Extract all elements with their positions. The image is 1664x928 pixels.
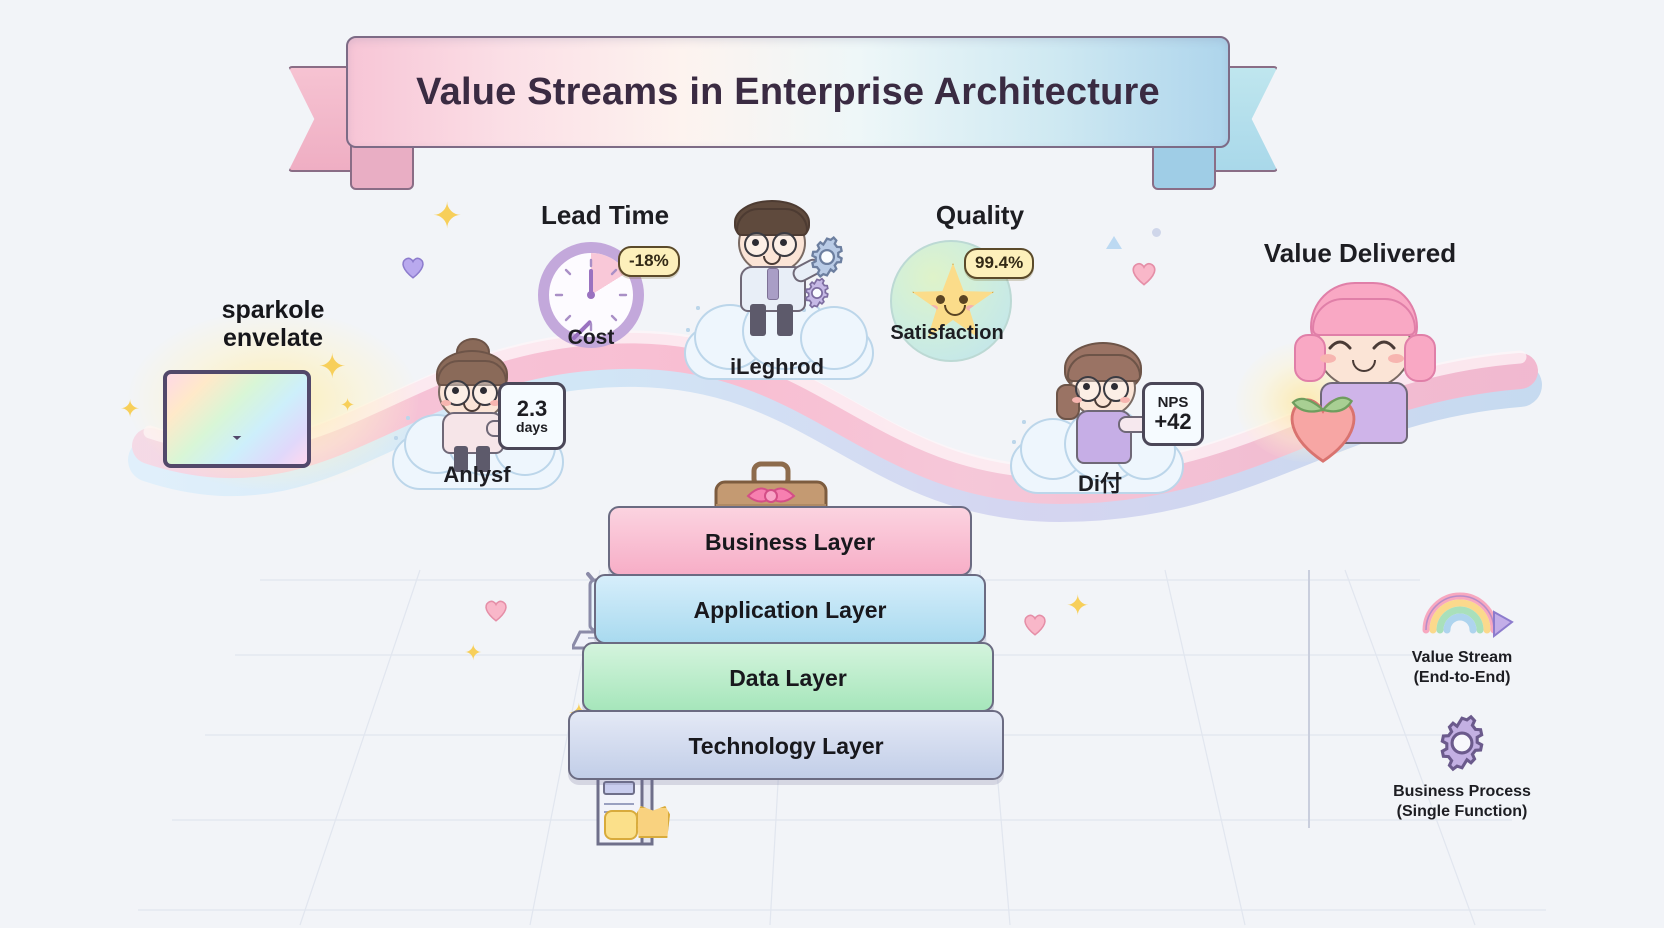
stage-analyst: 2.3 days Anlysf: [382, 340, 572, 505]
analyst-caption: Anlysf: [382, 462, 572, 488]
cheek: [1120, 397, 1130, 403]
nps-value: +42: [1154, 410, 1191, 433]
heart-icon: [400, 255, 426, 279]
architecture-layer-stack: Business Layer Application Layer Data La…: [560, 470, 1030, 850]
legend-label-line1: Business Process: [1352, 782, 1572, 802]
lead-time-sub-label: Cost: [538, 326, 644, 350]
legend-label-line1: Value Stream: [1352, 648, 1572, 668]
quality-sub-label: Satisfaction: [874, 322, 1020, 345]
nps-card: NPS +42: [1142, 382, 1204, 446]
sparkle-icon: ✦: [432, 198, 462, 234]
heart-icon: [483, 598, 509, 622]
triangle-deco: [1106, 236, 1122, 249]
sparkle-icon: ✦: [318, 350, 347, 384]
legend: Value Stream (End-to-End) Business Proce…: [1308, 560, 1578, 835]
cheek: [1320, 354, 1336, 363]
eye: [959, 295, 968, 304]
smiley-face-icon: [636, 806, 670, 838]
envelope-icon: [163, 370, 311, 468]
layer-label: Data Layer: [729, 665, 847, 692]
gear-icon: [800, 276, 834, 310]
sparkle-icon: ✦: [120, 398, 140, 422]
stage-delivery: NPS +42 Di付: [1000, 340, 1200, 510]
legend-item-business-process: Business Process (Single Function): [1352, 712, 1572, 822]
closed-eyes: [1316, 332, 1408, 356]
legend-divider: [1308, 570, 1310, 828]
layer-data[interactable]: Data Layer: [582, 642, 994, 712]
cheek: [1072, 397, 1082, 403]
metric-value: 2.3: [517, 397, 548, 420]
hair-fringe: [437, 360, 507, 386]
gear-icon: [804, 234, 850, 280]
delivery-caption: Di付: [1000, 466, 1200, 498]
ribbon-band: Value Streams in Enterprise Architecture: [346, 36, 1230, 148]
happy-character: [1292, 280, 1482, 455]
cheek: [441, 400, 451, 406]
stage-middle: iLeghrod: [672, 196, 882, 396]
lead-time-badge: -18%: [618, 246, 680, 277]
gear-icon: [1431, 712, 1493, 774]
mouth: [944, 305, 966, 316]
legend-label-line2: (Single Function): [1352, 802, 1572, 822]
legend-label-line2: (End-to-End): [1352, 668, 1572, 688]
metric-unit: days: [516, 420, 548, 435]
title-ribbon: Value Streams in Enterprise Architecture: [288, 36, 1278, 168]
quality-badge: 99.4%: [964, 248, 1034, 279]
leg: [750, 304, 766, 336]
legend-item-value-stream: Value Stream (End-to-End): [1352, 572, 1572, 688]
dot-deco: [1152, 228, 1161, 237]
eye: [1083, 383, 1090, 390]
sparkle-icon: ✦: [1066, 592, 1089, 620]
apple-heart-icon: [1280, 384, 1366, 464]
eye: [452, 387, 459, 394]
pigtail: [1404, 334, 1436, 382]
sparkle-icon: ✦: [464, 642, 482, 664]
eye: [752, 239, 759, 246]
quality-heading: Quality: [880, 200, 1080, 231]
start-caption-line1: sparkole: [108, 296, 438, 324]
layer-technology[interactable]: Technology Layer: [568, 710, 1004, 780]
layer-label: Business Layer: [705, 529, 875, 556]
page-title: Value Streams in Enterprise Architecture: [416, 71, 1160, 114]
cheek: [1388, 354, 1404, 363]
lead-time-metric-card: 2.3 days: [498, 382, 566, 450]
eye: [480, 387, 487, 394]
stage-value-delivered: Value Delivered: [1200, 238, 1520, 468]
eye: [1111, 383, 1118, 390]
sparkle-icon: ✦: [340, 396, 355, 414]
middle-caption: iLeghrod: [672, 354, 882, 380]
hair-fringe: [736, 208, 808, 236]
rainbow-arrow-icon: [1408, 572, 1516, 640]
layer-label: Application Layer: [694, 597, 887, 624]
stage-quality: Quality 99.4% Satisfaction: [880, 200, 1080, 360]
layer-label: Technology Layer: [688, 733, 883, 760]
eye: [780, 239, 787, 246]
smiley-face-icon: [604, 810, 638, 840]
diagram-canvas: Value Streams in Enterprise Architecture: [0, 0, 1664, 928]
layer-business[interactable]: Business Layer: [608, 506, 972, 576]
hair-fringe: [1067, 354, 1141, 382]
cheek: [928, 305, 938, 311]
heart-icon: [1130, 260, 1158, 286]
necktie: [767, 268, 779, 300]
hair-fringe: [1312, 298, 1416, 336]
nps-label: NPS: [1158, 395, 1189, 411]
value-delivered-heading: Value Delivered: [1200, 238, 1520, 269]
layer-application[interactable]: Application Layer: [594, 574, 986, 644]
eye: [936, 295, 945, 304]
cheek: [966, 305, 976, 311]
leg: [777, 304, 793, 336]
